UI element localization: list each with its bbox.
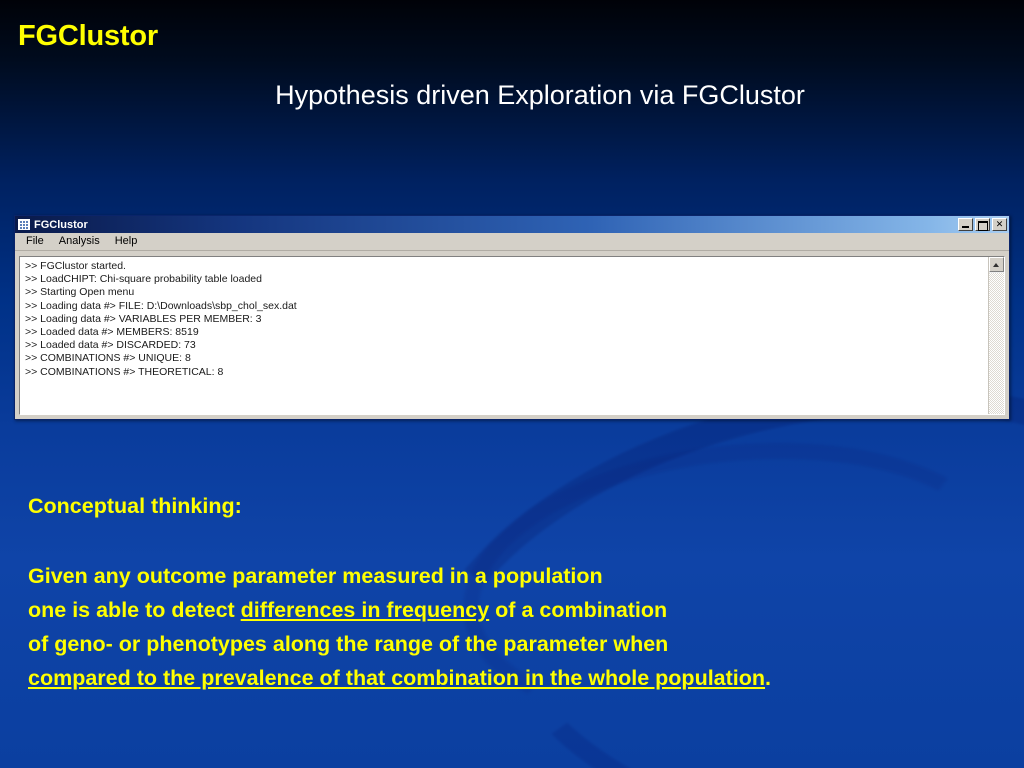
conceptual-thinking-heading: Conceptual thinking: <box>28 489 771 523</box>
slide-canvas: FGClustor Hypothesis driven Exploration … <box>0 0 1024 768</box>
scrollbar-track[interactable] <box>989 273 1004 414</box>
body-text: Given any outcome parameter measured in … <box>28 564 603 588</box>
conceptual-thinking-line: one is able to detect differences in fre… <box>28 593 771 627</box>
log-line: >> COMBINATIONS #> UNIQUE: 8 <box>25 352 984 365</box>
window-titlebar[interactable]: FGClustor ✕ <box>15 216 1009 233</box>
log-line: >> COMBINATIONS #> THEORETICAL: 8 <box>25 366 984 379</box>
log-output-text: >> FGClustor started. >> LoadCHIPT: Chi-… <box>20 257 988 414</box>
minimize-button[interactable] <box>958 218 973 231</box>
menu-item-help[interactable]: Help <box>108 234 146 249</box>
log-line: >> Loading data #> FILE: D:\Downloads\sb… <box>25 300 984 313</box>
menu-item-file[interactable]: File <box>19 234 52 249</box>
window-menubar: File Analysis Help <box>15 233 1009 251</box>
log-line: >> Loaded data #> DISCARDED: 73 <box>25 339 984 352</box>
conceptual-thinking-block: Conceptual thinking: Given any outcome p… <box>28 489 771 695</box>
grid-table-icon <box>18 219 30 230</box>
conceptual-thinking-lines: Given any outcome parameter measured in … <box>28 559 771 695</box>
body-text: . <box>765 666 771 690</box>
log-line: >> Loading data #> VARIABLES PER MEMBER:… <box>25 313 984 326</box>
log-line: >> LoadCHIPT: Chi-square probability tab… <box>25 273 984 286</box>
window-title: FGClustor <box>34 219 956 231</box>
menu-item-analysis[interactable]: Analysis <box>52 234 108 249</box>
body-text: of geno- or phenotypes along the range o… <box>28 632 668 656</box>
conceptual-thinking-line: of geno- or phenotypes along the range o… <box>28 627 771 661</box>
log-line: >> Starting Open menu <box>25 286 984 299</box>
close-button[interactable]: ✕ <box>992 218 1007 231</box>
conceptual-thinking-line: compared to the prevalence of that combi… <box>28 661 771 695</box>
fgclustor-application-window: FGClustor ✕ File Analysis Help >> FGClus… <box>14 215 1010 420</box>
emphasis-underlined-text: compared to the prevalence of that combi… <box>28 666 765 690</box>
body-text: of a combination <box>489 598 667 622</box>
scroll-up-icon[interactable] <box>989 257 1004 272</box>
slide-logo-title: FGClustor <box>18 20 158 53</box>
log-vertical-scrollbar[interactable] <box>988 257 1004 414</box>
slide-subtitle: Hypothesis driven Exploration via FGClus… <box>0 80 1024 111</box>
window-client-area: >> FGClustor started. >> LoadCHIPT: Chi-… <box>17 254 1007 417</box>
emphasis-underlined-text: differences in frequency <box>241 598 490 622</box>
log-line: >> FGClustor started. <box>25 260 984 273</box>
body-text: one is able to detect <box>28 598 241 622</box>
log-output-frame: >> FGClustor started. >> LoadCHIPT: Chi-… <box>19 256 1005 415</box>
restore-button[interactable] <box>975 218 990 231</box>
conceptual-thinking-line: Given any outcome parameter measured in … <box>28 559 771 593</box>
log-line: >> Loaded data #> MEMBERS: 8519 <box>25 326 984 339</box>
